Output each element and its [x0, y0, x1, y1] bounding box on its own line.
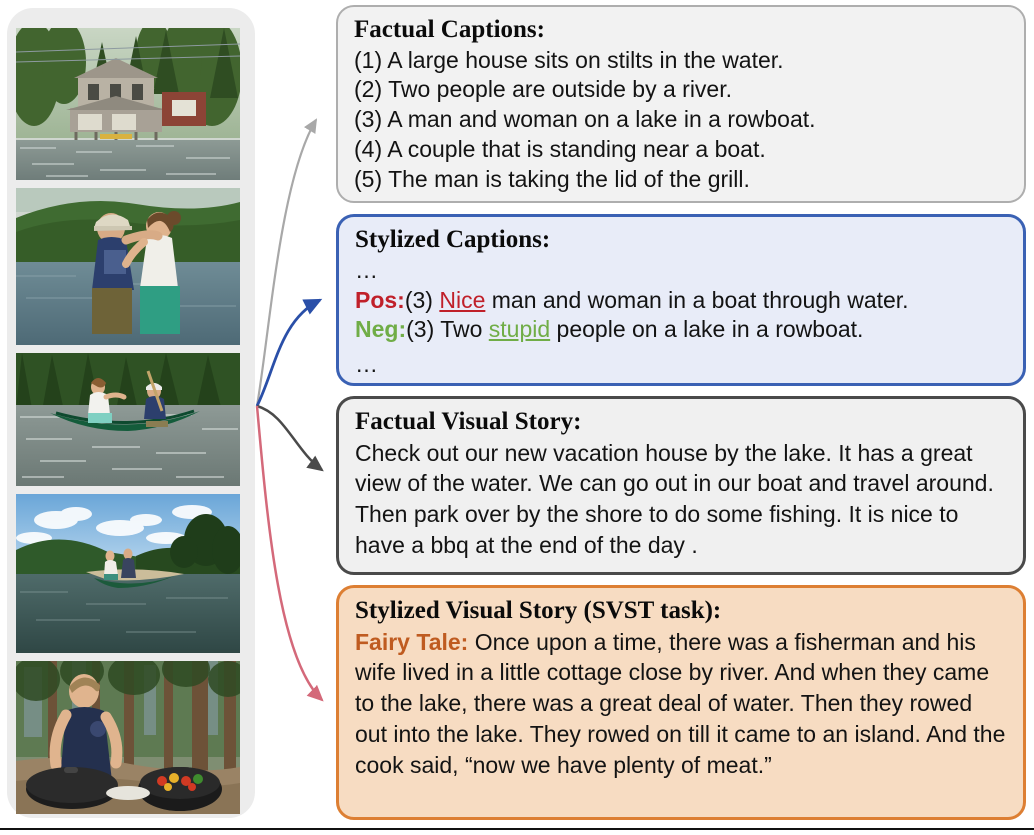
stylized-visual-story-text: Fairy Tale: Once upon a time, there was … [355, 627, 1009, 781]
photo-strip-container [7, 8, 255, 818]
stylized-visual-story-box: Stylized Visual Story (SVST task): Fairy… [336, 585, 1026, 820]
photo-canoe-on-lake [16, 353, 240, 486]
negative-tag: Neg: [355, 316, 406, 342]
positive-highlight-word: Nice [439, 287, 485, 313]
negative-highlight-word: stupid [489, 316, 550, 342]
photo-couple-by-lake-art [16, 188, 240, 345]
photo-couple-by-lake [16, 188, 240, 345]
factual-caption-4: (4) A couple that is standing near a boa… [354, 135, 1010, 165]
photo-man-at-grill-art [16, 661, 240, 814]
arrow-to-stylized-story [257, 406, 322, 700]
photo-lakeside-house [16, 28, 240, 180]
stylized-caption-positive: Pos:(3) Nice man and woman in a boat thr… [355, 286, 1009, 316]
photo-boat-at-shore [16, 494, 240, 653]
arrow-to-factual-story [257, 406, 322, 470]
factual-captions-title: Factual Captions: [354, 15, 1010, 45]
factual-visual-story-text: Check out our new vacation house by the … [355, 438, 1009, 561]
positive-tag: Pos: [355, 287, 405, 313]
positive-rest: man and woman in a boat through water. [485, 287, 908, 313]
factual-visual-story-box: Factual Visual Story: Check out our new … [336, 396, 1026, 575]
factual-visual-story-title: Factual Visual Story: [355, 407, 1009, 437]
factual-caption-2: (2) Two people are outside by a river. [354, 75, 1010, 105]
factual-captions-box: Factual Captions: (1) A large house sits… [336, 5, 1026, 203]
factual-caption-3: (3) A man and woman on a lake in a rowbo… [354, 105, 1010, 135]
negative-rest: people on a lake in a rowboat. [550, 316, 863, 342]
stylized-captions-box: Stylized Captions: … Pos:(3) Nice man an… [336, 214, 1026, 386]
photo-man-at-grill [16, 661, 240, 814]
arrow-to-stylized-captions [257, 300, 320, 406]
stylized-captions-title: Stylized Captions: [355, 225, 1009, 255]
stylized-captions-ellipsis-top: … [355, 259, 1009, 282]
stylized-captions-ellipsis-bottom: … [355, 353, 1009, 376]
fairy-tale-style-label: Fairy Tale: [355, 629, 468, 655]
stylized-visual-storytelling-figure: Factual Captions: (1) A large house sits… [0, 0, 1034, 835]
photo-lakeside-house-art [16, 28, 240, 180]
stylized-visual-story-title: Stylized Visual Story (SVST task): [355, 596, 1009, 626]
negative-index: (3) Two [406, 316, 489, 342]
photo-canoe-on-lake-art [16, 353, 240, 486]
factual-caption-5: (5) The man is taking the lid of the gri… [354, 165, 1010, 195]
positive-index: (3) [405, 287, 440, 313]
factual-caption-1: (1) A large house sits on stilts in the … [354, 46, 1010, 76]
photo-boat-at-shore-art [16, 494, 240, 653]
bottom-divider-rule [0, 828, 1034, 830]
stylized-caption-negative: Neg:(3) Two stupid people on a lake in a… [355, 315, 1009, 345]
arrow-to-factual-captions [257, 120, 316, 406]
